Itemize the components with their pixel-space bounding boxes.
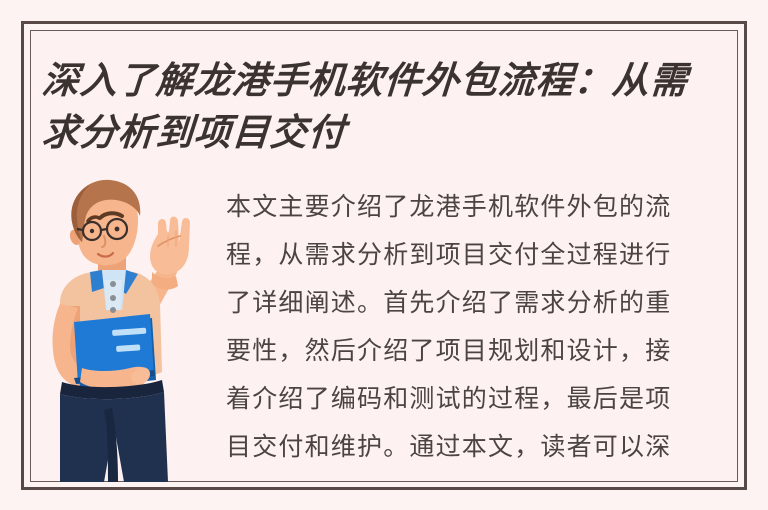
summary-line-3: 了详细阐述。首先介绍了需求分析的重 xyxy=(226,279,736,327)
head xyxy=(70,180,140,266)
page-title: 深入了解龙港手机软件外包流程：从需 求分析到项目交付 xyxy=(42,54,732,158)
summary-line-4: 要性，然后介绍了项目规划和设计，接 xyxy=(226,327,736,375)
summary-line-1: 本文主要介绍了龙港手机软件外包的流 xyxy=(226,183,736,231)
page-title-line-2: 求分析到项目交付 xyxy=(40,106,734,158)
article-summary: 本文主要介绍了龙港手机软件外包的流 程，从需求分析到项目交付全过程进行 了详细阐… xyxy=(226,183,736,471)
man-waving-holding-book-illustration xyxy=(46,176,196,482)
pants xyxy=(60,380,168,482)
page-title-line-1: 深入了解龙港手机软件外包流程：从需 xyxy=(40,54,734,106)
summary-line-6: 目交付和维护。通过本文，读者可以深 xyxy=(226,423,736,471)
summary-line-5: 着介绍了编码和测试的过程，最后是项 xyxy=(226,375,736,423)
article-card: 深入了解龙港手机软件外包流程：从需 求分析到项目交付 xyxy=(0,0,768,510)
summary-line-2: 程，从需求分析到项目交付全过程进行 xyxy=(226,231,736,279)
waving-hand xyxy=(150,217,190,290)
